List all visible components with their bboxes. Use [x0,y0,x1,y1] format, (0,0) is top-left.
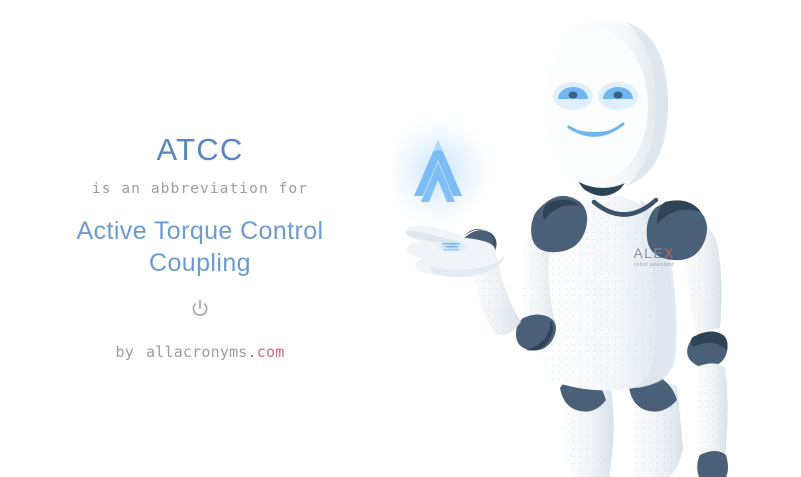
acronym-title: ATCC [0,131,400,169]
byline-site-name: allacronyms [146,343,248,361]
power-icon [0,299,400,319]
definition-block: ATCC is an abbreviation for Active Torqu… [0,0,400,477]
meaning-line-1: Active Torque Control [0,216,400,248]
byline-by-label: by [116,343,134,361]
acronym-meaning: Active Torque Control Coupling [0,216,400,279]
attribution-byline: by allacronyms.com [0,342,400,362]
byline-site-tld: .com [248,343,285,361]
acronym-card: ATCC is an abbreviation for Active Torqu… [0,0,801,477]
abbreviation-connector-text: is an abbreviation for [0,179,400,199]
robot-illustration [390,0,801,477]
meaning-line-2: Coupling [0,248,400,280]
